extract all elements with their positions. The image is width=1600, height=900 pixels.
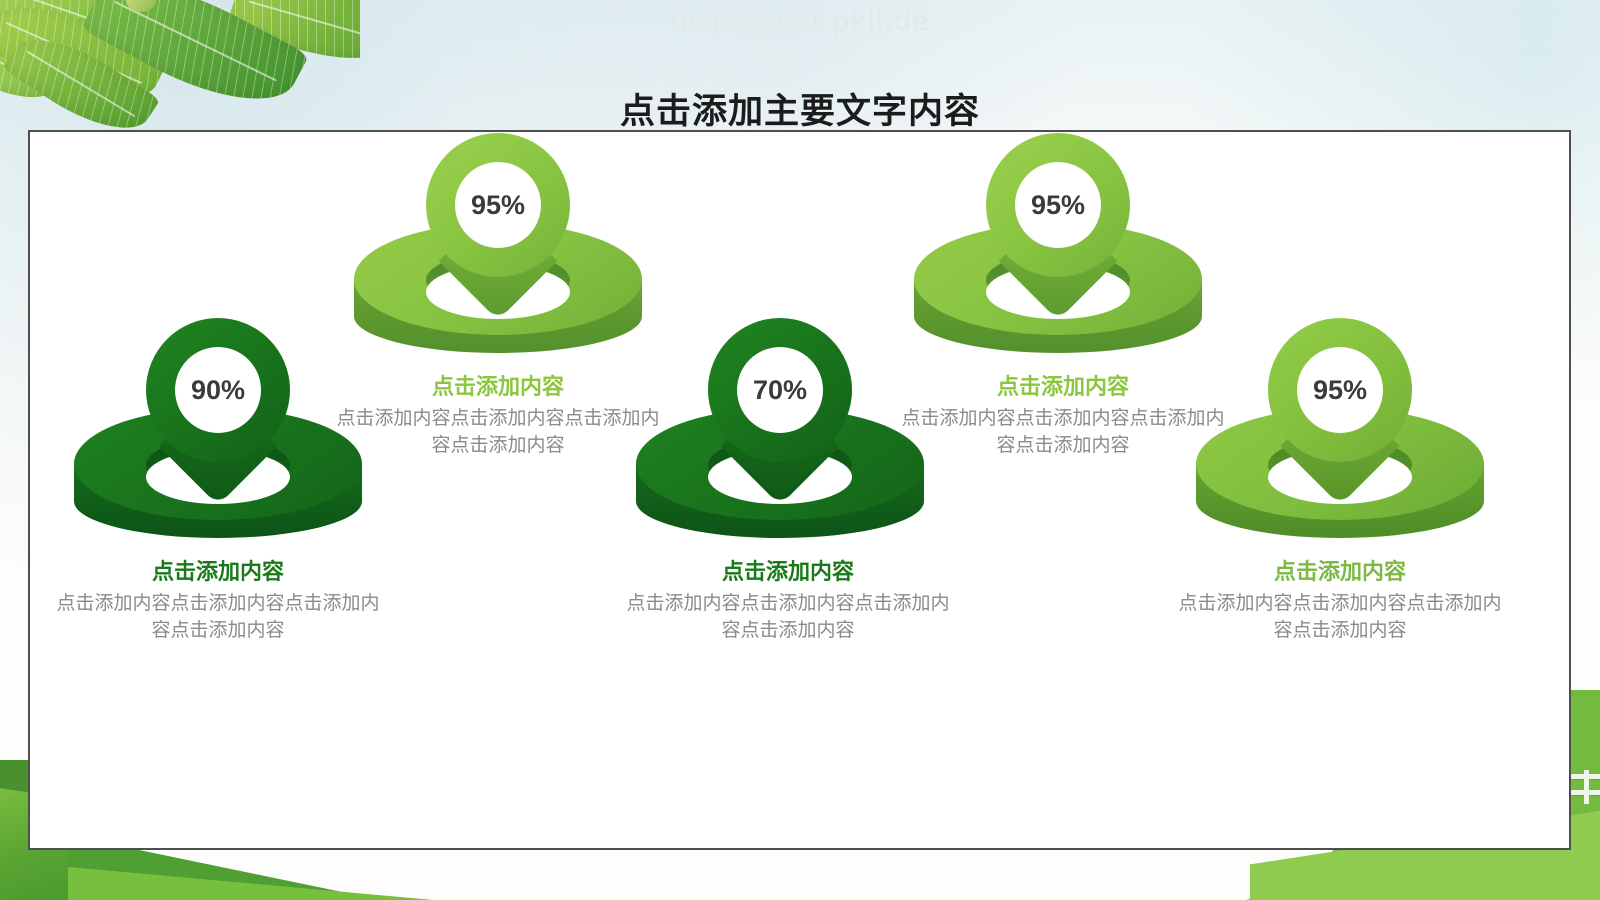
caption-4: 点击添加内容 点击添加内容点击添加内容点击添加内容点击添加内容 <box>898 373 1228 460</box>
pin-graphic-1: 90% <box>68 318 368 548</box>
caption-body-5: 点击添加内容点击添加内容点击添加内容点击添加内容 <box>1175 590 1505 645</box>
pin-value-bubble: 95% <box>455 162 541 248</box>
caption-2: 点击添加内容 点击添加内容点击添加内容点击添加内容点击添加内容 <box>333 373 663 460</box>
caption-5: 点击添加内容 点击添加内容点击添加内容点击添加内容点击添加内容 <box>1175 558 1505 645</box>
caption-title-3: 点击添加内容 <box>623 558 953 586</box>
metric-pin-2[interactable]: 95% <box>348 133 648 363</box>
caption-title-4: 点击添加内容 <box>898 373 1228 401</box>
caption-body-3: 点击添加内容点击添加内容点击添加内容点击添加内容 <box>623 590 953 645</box>
caption-body-2: 点击添加内容点击添加内容点击添加内容点击添加内容 <box>333 405 663 460</box>
pin-percent-value: 95% <box>1031 190 1085 221</box>
page-title: 点击添加主要文字内容 <box>0 83 1600 134</box>
caption-3: 点击添加内容 点击添加内容点击添加内容点击添加内容点击添加内容 <box>623 558 953 645</box>
pin-percent-value: 95% <box>471 190 525 221</box>
metric-pin-3[interactable]: 70% <box>630 318 930 548</box>
map-pin-marker-3: 70% <box>708 318 852 494</box>
pin-graphic-3: 70% <box>630 318 930 548</box>
pin-percent-value: 95% <box>1313 375 1367 406</box>
map-pin-marker-5: 95% <box>1268 318 1412 494</box>
map-pin-marker-2: 95% <box>426 133 570 309</box>
caption-title-5: 点击添加内容 <box>1175 558 1505 586</box>
pin-value-bubble: 95% <box>1015 162 1101 248</box>
pin-graphic-2: 95% <box>348 133 648 363</box>
caption-title-1: 点击添加内容 <box>53 558 383 586</box>
caption-body-1: 点击添加内容点击添加内容点击添加内容点击添加内容 <box>53 590 383 645</box>
map-pin-marker-4: 95% <box>986 133 1130 309</box>
pin-percent-value: 70% <box>753 375 807 406</box>
caption-title-2: 点击添加内容 <box>333 373 663 401</box>
fence-post <box>1584 770 1589 804</box>
pin-value-bubble: 70% <box>737 347 823 433</box>
pin-graphic-4: 95% <box>908 133 1208 363</box>
map-pin-marker-1: 90% <box>146 318 290 494</box>
metric-pin-4[interactable]: 95% <box>908 133 1208 363</box>
metric-pin-1[interactable]: 90% <box>68 318 368 548</box>
caption-body-4: 点击添加内容点击添加内容点击添加内容点击添加内容 <box>898 405 1228 460</box>
caption-1: 点击添加内容 点击添加内容点击添加内容点击添加内容点击添加内容 <box>53 558 383 645</box>
pin-value-bubble: 90% <box>175 347 261 433</box>
pin-value-bubble: 95% <box>1297 347 1383 433</box>
pin-percent-value: 90% <box>191 375 245 406</box>
pin-graphic-5: 95% <box>1190 318 1490 548</box>
slide-canvas: https://ppt.pkll.de 点击添加主要文字内容 90% 点击添加内… <box>0 0 1600 900</box>
metric-pin-5[interactable]: 95% <box>1190 318 1490 548</box>
watermark-url: https://ppt.pkll.de <box>0 6 1600 37</box>
